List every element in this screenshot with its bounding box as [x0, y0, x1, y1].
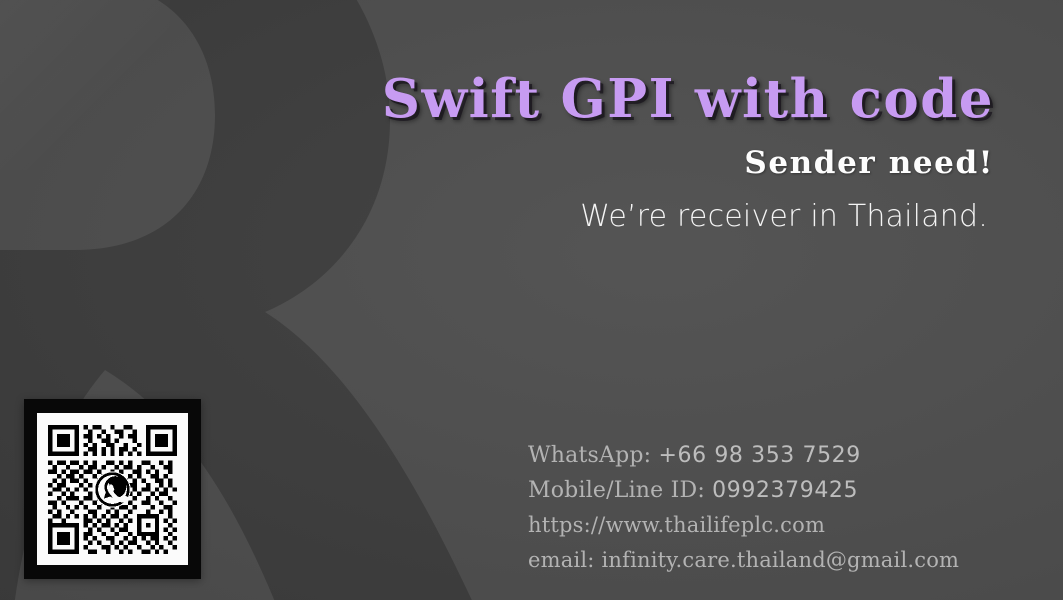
- contact-line-website[interactable]: https://www.thailifeplc.com: [528, 508, 998, 543]
- page-title: Swift GPI with code: [0, 72, 1002, 126]
- contact-line-whatsapp[interactable]: WhatsApp: +66 98 353 7529: [528, 438, 998, 473]
- contact-label-whatsapp: WhatsApp:: [528, 443, 651, 468]
- contact-value-whatsapp: +66 98 353 7529: [659, 443, 861, 468]
- headline-tagline: We’re receiver in Thailand.: [0, 199, 1002, 234]
- contact-block: WhatsApp: +66 98 353 7529 Mobile/Line ID…: [528, 438, 998, 578]
- headline-block: Swift GPI with code Sender need! We’re r…: [0, 72, 1002, 234]
- business-card-canvas: Swift GPI with code Sender need! We’re r…: [0, 0, 1063, 600]
- whatsapp-icon: [94, 471, 130, 507]
- qr-code-frame[interactable]: [24, 399, 201, 579]
- contact-line-line-id[interactable]: Mobile/Line ID: 0992379425: [528, 473, 998, 508]
- contact-label-line-id: Mobile/Line ID:: [528, 478, 705, 503]
- headline-subtitle: Sender need!: [0, 145, 1002, 181]
- contact-value-email: infinity.care.thailand@gmail.com: [601, 548, 959, 572]
- whatsapp-qr-code[interactable]: [48, 425, 177, 554]
- contact-label-email: email:: [528, 548, 595, 572]
- qr-code-quiet-zone: [37, 413, 188, 565]
- contact-line-email[interactable]: email: infinity.care.thailand@gmail.com: [528, 543, 998, 578]
- contact-value-line-id: 0992379425: [712, 478, 858, 503]
- contact-value-website: https://www.thailifeplc.com: [528, 513, 825, 537]
